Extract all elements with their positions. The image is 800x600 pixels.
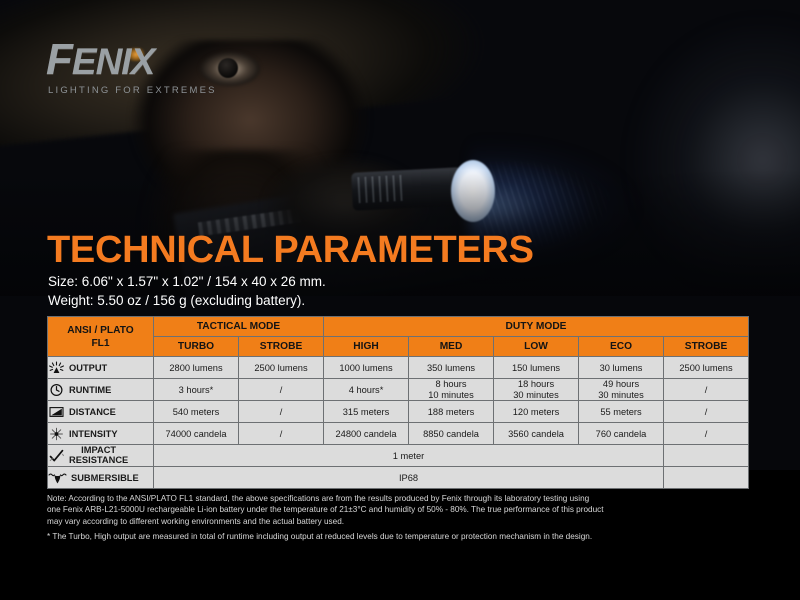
cell-impact-resistance-empty	[664, 445, 749, 467]
cell-impact-resistance-value: 1 meter	[154, 445, 664, 467]
table-row-runtime: RUNTIME 3 hours* / 4 hours* 8 hours10 mi…	[48, 379, 749, 401]
cell-distance-med: 188 meters	[409, 401, 494, 423]
star-footnote: * The Turbo, High output are measured in…	[47, 531, 753, 542]
cell-runtime-low: 18 hours30 minutes	[494, 379, 579, 401]
cell-runtime-turbo: 3 hours*	[154, 379, 239, 401]
brand-wordmark: FENIX	[46, 38, 217, 82]
cell-intensity-eco: 760 candela	[579, 423, 664, 445]
cell-submersible-value: IP68	[154, 467, 664, 489]
row-label-intensity: INTENSITY	[48, 423, 154, 445]
specifications-table: ANSI / PLATO FL1 TACTICAL MODE DUTY MODE…	[47, 316, 749, 489]
row-label-text: OUTPUT	[69, 363, 107, 373]
cell-distance-eco: 55 meters	[579, 401, 664, 423]
cell-distance-strobe-duty: /	[664, 401, 749, 423]
cell-output-high: 1000 lumens	[324, 357, 409, 379]
mode-header-eco: ECO	[579, 337, 664, 357]
cell-intensity-med: 8850 candela	[409, 423, 494, 445]
cell-intensity-high: 24800 candela	[324, 423, 409, 445]
row-label-submersible: SUBMERSIBLE	[48, 467, 154, 489]
cell-intensity-turbo: 74000 candela	[154, 423, 239, 445]
mode-header-med: MED	[409, 337, 494, 357]
mode-header-strobe-duty: STROBE	[664, 337, 749, 357]
cell-output-strobe-tactical: 2500 lumens	[239, 357, 324, 379]
row-label-impact-resistance: IMPACT RESISTANCE	[48, 445, 154, 467]
corner-header-ansi-plato: ANSI / PLATO FL1	[48, 317, 154, 357]
intensity-burst-icon	[48, 427, 65, 441]
clock-icon	[48, 383, 65, 397]
cell-distance-turbo: 540 meters	[154, 401, 239, 423]
light-rays-icon	[48, 361, 65, 375]
table-row-impact-resistance: IMPACT RESISTANCE 1 meter	[48, 445, 749, 467]
row-label-text: RUNTIME	[69, 385, 111, 395]
page-title: TECHNICAL PARAMETERS	[47, 231, 534, 269]
cell-intensity-strobe-tactical: /	[239, 423, 324, 445]
cell-output-strobe-duty: 2500 lumens	[664, 357, 749, 379]
mode-header-strobe-tactical: STROBE	[239, 337, 324, 357]
row-label-runtime: RUNTIME	[48, 379, 154, 401]
table-row-distance: DISTANCE 540 meters / 315 meters 188 met…	[48, 401, 749, 423]
background-eye-pupil	[218, 58, 238, 78]
dimensions-block: Size: 6.06" x 1.57" x 1.02" / 154 x 40 x…	[48, 272, 326, 310]
table-mode-header-row: TURBO STROBE HIGH MED LOW ECO STROBE	[48, 337, 749, 357]
cell-distance-strobe-tactical: /	[239, 401, 324, 423]
cell-runtime-eco: 49 hours30 minutes	[579, 379, 664, 401]
cell-runtime-strobe-duty: /	[664, 379, 749, 401]
cell-output-eco: 30 lumens	[579, 357, 664, 379]
table-group-header-row: ANSI / PLATO FL1 TACTICAL MODE DUTY MODE	[48, 317, 749, 337]
note-line-2: one Fenix ARB-L21-5000U rechargeable Li-…	[47, 504, 753, 515]
table-row-intensity: INTENSITY 74000 candela / 24800 candela …	[48, 423, 749, 445]
note-line-1: Note: According to the ANSI/PLATO FL1 st…	[47, 493, 753, 504]
fenix-logo: FENIX LIGHTING FOR EXTREMES	[46, 38, 217, 96]
brand-tagline: LIGHTING FOR EXTREMES	[48, 85, 217, 96]
footnotes-block: Note: According to the ANSI/PLATO FL1 st…	[47, 493, 753, 543]
corner-header-line2: FL1	[48, 337, 153, 350]
size-text: Size: 6.06" x 1.57" x 1.02" / 154 x 40 x…	[48, 272, 326, 291]
cell-runtime-high: 4 hours*	[324, 379, 409, 401]
weight-text: Weight: 5.50 oz / 156 g (excluding batte…	[48, 291, 326, 310]
water-drop-icon	[48, 471, 67, 485]
row-label-distance: DISTANCE	[48, 401, 154, 423]
cell-intensity-low: 3560 candela	[494, 423, 579, 445]
mode-header-turbo: TURBO	[154, 337, 239, 357]
impact-resistance-icon	[48, 448, 65, 464]
cell-submersible-empty	[664, 467, 749, 489]
cell-distance-high: 315 meters	[324, 401, 409, 423]
cell-output-med: 350 lumens	[409, 357, 494, 379]
impact-label-line1: IMPACT	[81, 445, 116, 455]
cell-distance-low: 120 meters	[494, 401, 579, 423]
cell-runtime-med: 8 hours10 minutes	[409, 379, 494, 401]
corner-header-line1: ANSI / PLATO	[48, 324, 153, 337]
row-label-text: INTENSITY	[69, 429, 118, 439]
group-header-duty-mode: DUTY MODE	[324, 317, 749, 337]
cell-output-turbo: 2800 lumens	[154, 357, 239, 379]
cell-runtime-strobe-tactical: /	[239, 379, 324, 401]
row-label-text: DISTANCE	[69, 407, 116, 417]
mode-header-low: LOW	[494, 337, 579, 357]
row-label-output: OUTPUT	[48, 357, 154, 379]
table-row-output: OUTPUT 2800 lumens 2500 lumens 1000 lume…	[48, 357, 749, 379]
beam-distance-icon	[48, 405, 65, 419]
product-spec-page: FENIX LIGHTING FOR EXTREMES TECHNICAL PA…	[0, 0, 800, 600]
impact-label-line2: RESISTANCE	[69, 455, 128, 465]
row-label-text: SUBMERSIBLE	[71, 473, 139, 483]
table-row-submersible: SUBMERSIBLE IP68	[48, 467, 749, 489]
note-line-3: may vary according to different working …	[47, 516, 753, 527]
cell-output-low: 150 lumens	[494, 357, 579, 379]
group-header-tactical-mode: TACTICAL MODE	[154, 317, 324, 337]
mode-header-high: HIGH	[324, 337, 409, 357]
cell-intensity-strobe-duty: /	[664, 423, 749, 445]
row-label-text: IMPACT RESISTANCE	[69, 446, 128, 465]
